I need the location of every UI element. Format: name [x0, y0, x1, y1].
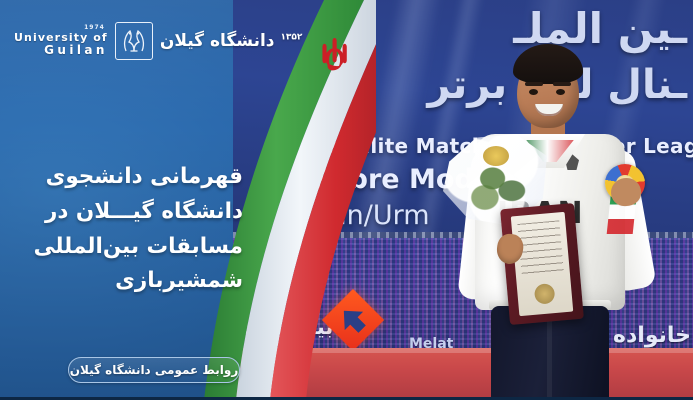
bouquet-gold-accent	[483, 146, 509, 166]
certificate-seal	[534, 283, 556, 305]
university-logo[interactable]: 1974 University of Guilan ۱۳۵۲ دانشگاه گ…	[14, 22, 304, 60]
guilan-university-crest-icon	[115, 22, 153, 60]
logo-line-2: Guilan	[14, 44, 108, 57]
public-relations-badge[interactable]: روابط عمومی دانشگاه گیلان	[68, 357, 240, 383]
athlete-eyebrow	[553, 82, 571, 86]
athlete-hair	[513, 44, 583, 84]
athlete-eye	[529, 89, 538, 95]
headline-line-4: شمشیربازی	[14, 264, 243, 299]
headline-line-3: مسابقات بین‌المللی	[14, 230, 243, 265]
headline-line-2: دانشگاه گیـــلان در	[14, 195, 243, 230]
news-banner: ـین الملـ ـنال لیگ برتر Satellite Matche…	[0, 0, 693, 400]
award-certificate-icon	[500, 203, 584, 325]
certificate-paper	[511, 212, 574, 316]
logo-year-fa: ۱۳۵۲	[280, 32, 302, 42]
headline-line-1: قهرمانی دانشجوی	[14, 160, 243, 195]
logo-english-words: 1974 University of Guilan	[14, 25, 108, 57]
logo-persian-label: دانشگاه گیلان	[160, 31, 275, 51]
public-relations-label: روابط عمومی دانشگاه گیلان	[70, 363, 239, 377]
headline: قهرمانی دانشجوی دانشگاه گیـــلان در مساب…	[14, 160, 243, 299]
athlete-eyebrow	[525, 82, 543, 86]
athlete-eye	[556, 89, 565, 95]
athlete-figure: IRAN	[461, 38, 647, 400]
logo-persian-name: ۱۳۵۲ دانشگاه گیلان	[160, 31, 303, 51]
